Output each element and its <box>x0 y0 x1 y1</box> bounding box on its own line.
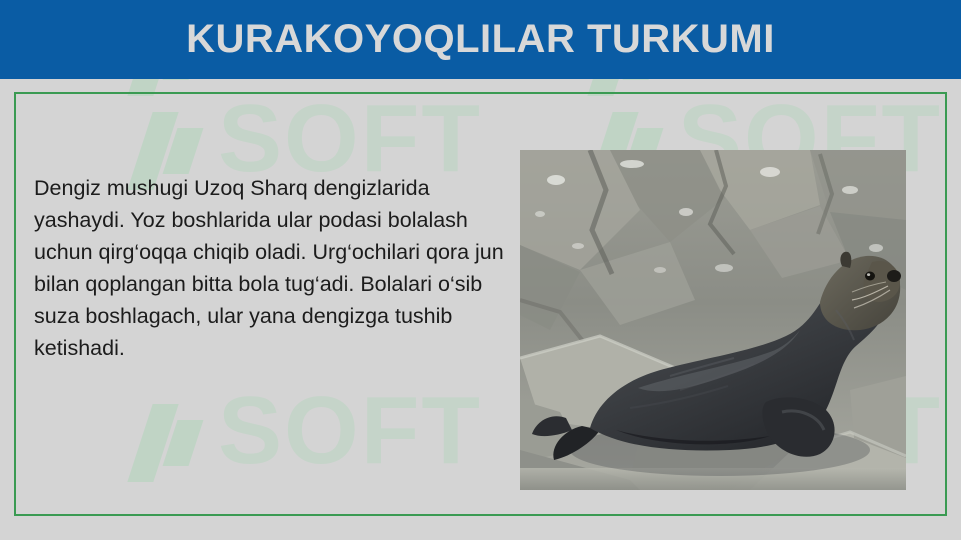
fur-seal-photo <box>520 150 906 490</box>
slide-header-bar: KURAKOYOQLILAR TURKUMI <box>0 0 961 79</box>
fur-seal-photo-illustration <box>520 150 906 490</box>
body-paragraph: Dengiz mushugi Uzoq Sharq dengizlarida y… <box>34 172 504 364</box>
slide-title: KURAKOYOQLILAR TURKUMI <box>186 17 775 62</box>
